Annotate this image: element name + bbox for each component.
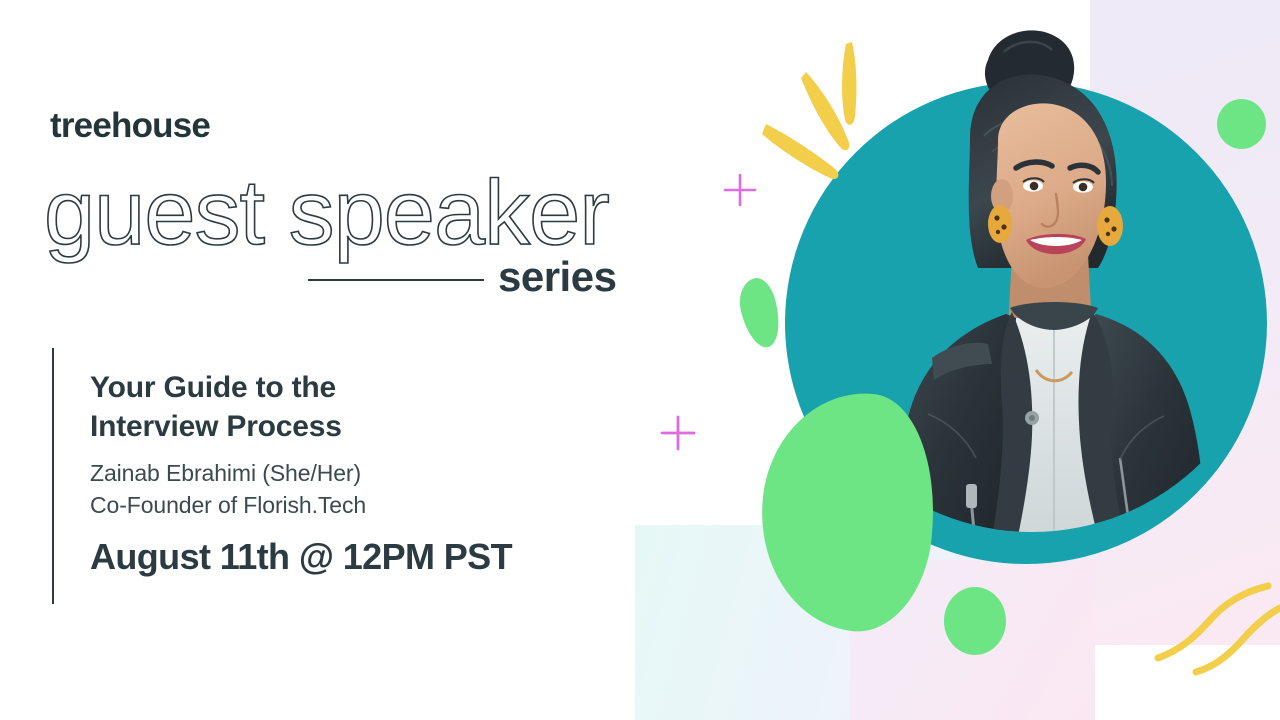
- series-label: series: [498, 256, 616, 298]
- event-datetime: August 11th @ 12PM PST: [90, 537, 630, 577]
- plus-mark-top-icon: [722, 172, 758, 208]
- poster-canvas: treehouse guest speaker series Your Guid…: [0, 0, 1280, 720]
- detail-divider-rule: [52, 348, 54, 604]
- series-divider-rule: [308, 279, 484, 281]
- green-circle-bottom-shape: [944, 587, 1006, 655]
- speaker-name: Zainab Ebrahimi (She/Her): [90, 458, 630, 490]
- talk-title-line-2: Interview Process: [90, 407, 630, 446]
- green-blob-small-shape: [734, 275, 786, 352]
- headline-guest-speaker: guest speaker: [44, 158, 664, 268]
- brand-lockup: treehouse: [50, 108, 210, 143]
- plus-mark-middle-icon: [660, 415, 696, 451]
- speaker-role: Co-Founder of Florish.Tech: [90, 490, 630, 522]
- event-details: Your Guide to the Interview Process Zain…: [90, 368, 630, 577]
- talk-title: Your Guide to the Interview Process: [90, 368, 630, 446]
- brand-name: treehouse: [50, 108, 210, 143]
- talk-title-line-1: Your Guide to the: [90, 368, 630, 407]
- headline-outline-text: guest speaker: [44, 162, 609, 264]
